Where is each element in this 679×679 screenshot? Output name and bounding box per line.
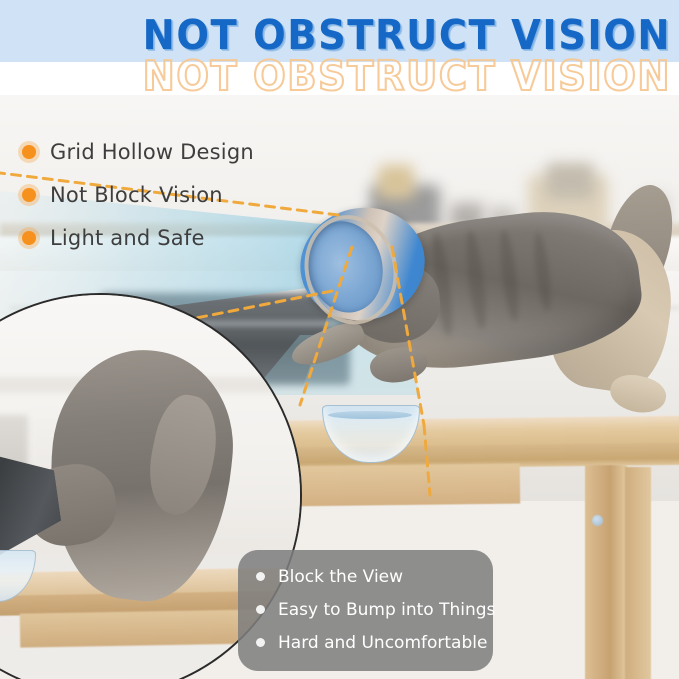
header-title-group: NOT OBSTRUCT VISION NOT OBSTRUCT VISION bbox=[0, 0, 679, 95]
bullet-dot-icon bbox=[22, 231, 36, 245]
feature-item: Light and Safe bbox=[22, 216, 322, 259]
drawback-item: Block the View bbox=[238, 560, 493, 593]
feature-label: Light and Safe bbox=[50, 226, 205, 250]
feature-list: Grid Hollow Design Not Block Vision Ligh… bbox=[22, 130, 322, 259]
drawback-item: Easy to Bump into Things bbox=[238, 593, 493, 626]
feature-item: Not Block Vision bbox=[22, 173, 322, 216]
drawback-label: Easy to Bump into Things bbox=[278, 600, 495, 620]
bullet-dot-icon bbox=[256, 572, 265, 581]
sight-line-down-left bbox=[300, 247, 352, 405]
feature-label: Grid Hollow Design bbox=[50, 140, 254, 164]
bullet-dot-icon bbox=[256, 638, 265, 647]
drawback-item: Hard and Uncomfortable bbox=[238, 626, 493, 659]
feature-label: Not Block Vision bbox=[50, 183, 223, 207]
sight-line-down-extend bbox=[424, 425, 430, 495]
feature-item: Grid Hollow Design bbox=[22, 130, 322, 173]
drawback-label: Block the View bbox=[278, 567, 403, 587]
bullet-dot-icon bbox=[256, 605, 265, 614]
drawback-panel: Block the View Easy to Bump into Things … bbox=[238, 550, 493, 671]
bullet-dot-icon bbox=[22, 145, 36, 159]
bullet-dot-icon bbox=[22, 188, 36, 202]
sight-line-down-right bbox=[392, 247, 424, 425]
drawback-label: Hard and Uncomfortable bbox=[278, 633, 487, 653]
product-feature-image: NOT OBSTRUCT VISION NOT OBSTRUCT VISION bbox=[0, 0, 679, 679]
page-title: NOT OBSTRUCT VISION bbox=[143, 11, 671, 59]
